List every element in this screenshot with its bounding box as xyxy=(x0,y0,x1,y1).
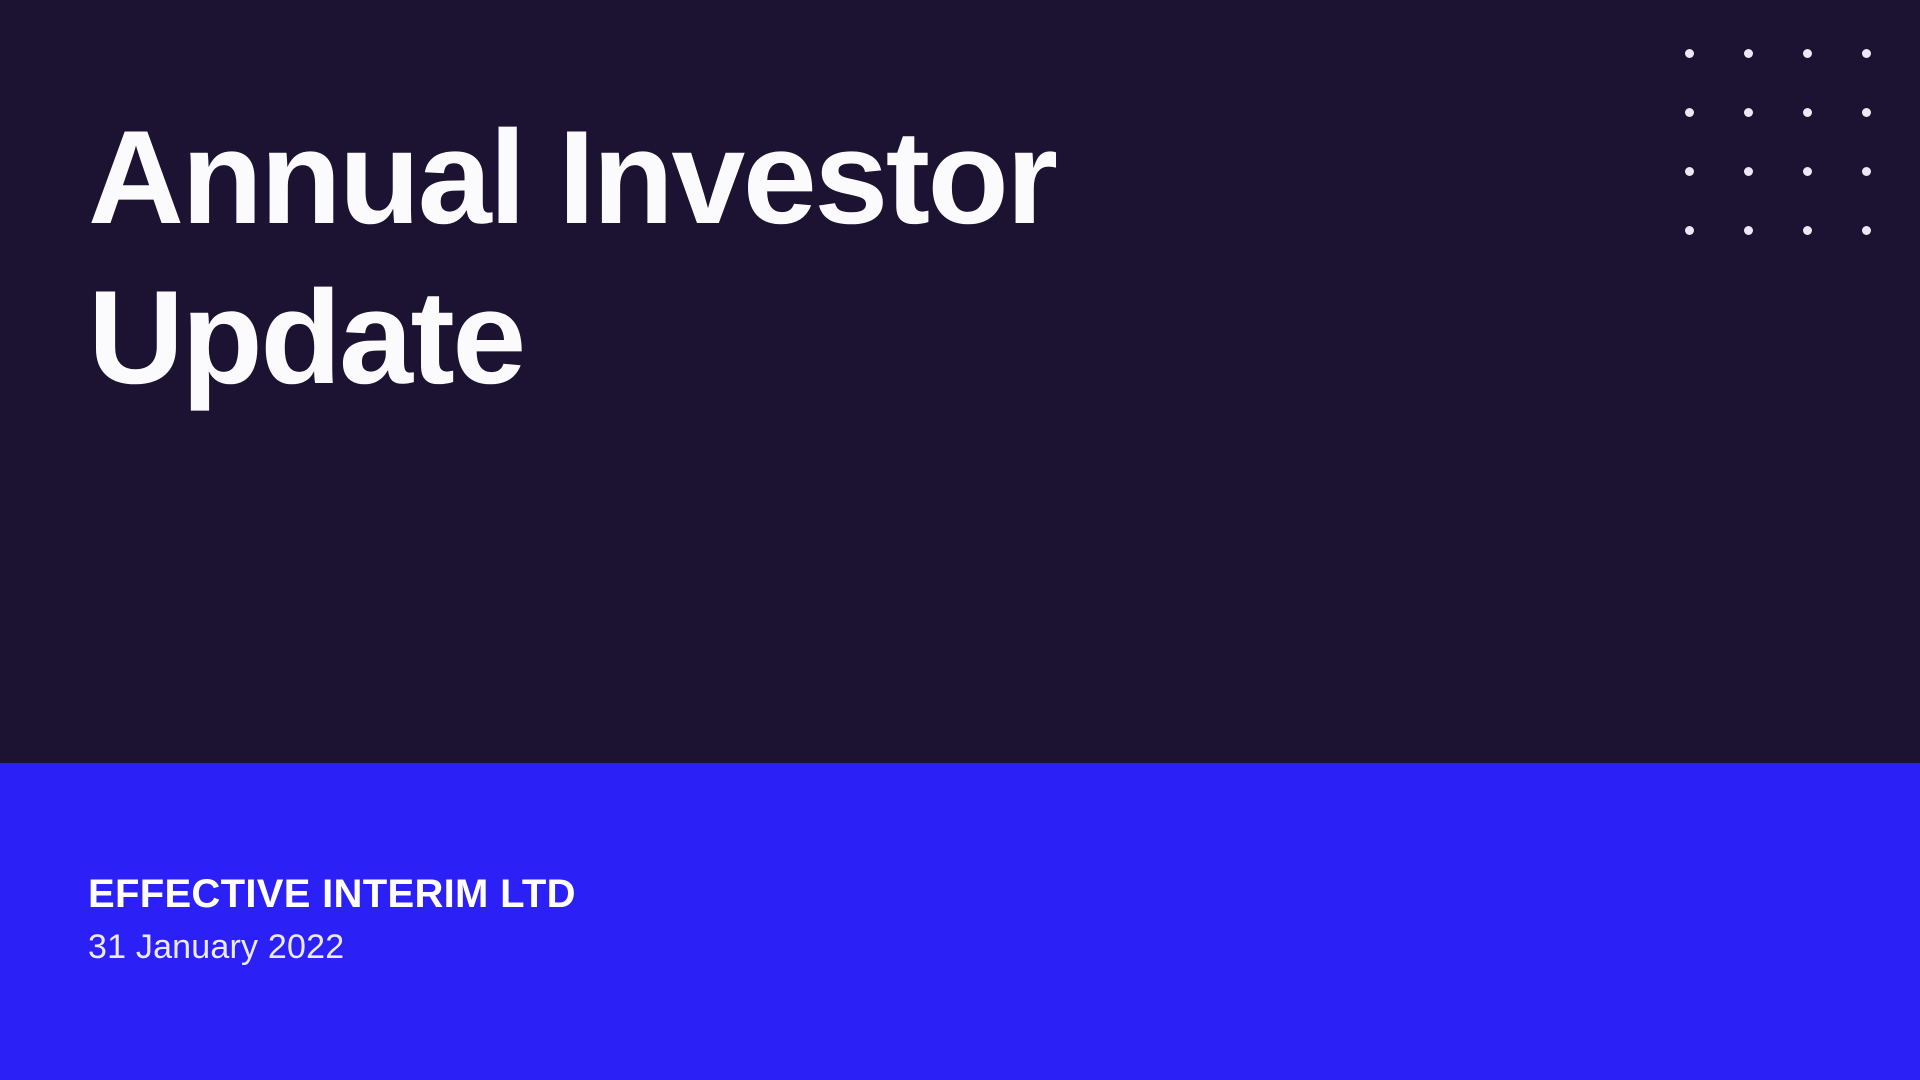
dot-icon xyxy=(1862,167,1871,176)
dot-icon xyxy=(1803,49,1812,58)
dot-icon xyxy=(1685,226,1694,235)
title-block: Annual Investor Update xyxy=(88,98,1388,418)
dot-icon xyxy=(1744,226,1753,235)
dot-icon xyxy=(1862,108,1871,117)
dot-icon xyxy=(1862,226,1871,235)
dot-icon xyxy=(1744,167,1753,176)
dot-icon xyxy=(1744,108,1753,117)
dot-icon xyxy=(1803,108,1812,117)
dot-icon xyxy=(1803,226,1812,235)
slide-date: 31 January 2022 xyxy=(88,926,576,968)
dot-icon xyxy=(1803,167,1812,176)
presentation-slide: Annual Investor Update EFFECTIVE INTERIM… xyxy=(0,0,1920,1080)
dot-icon xyxy=(1862,49,1871,58)
slide-bottom-band: EFFECTIVE INTERIM LTD 31 January 2022 xyxy=(0,763,1920,1080)
dot-icon xyxy=(1685,167,1694,176)
dot-icon xyxy=(1685,108,1694,117)
footer-block: EFFECTIVE INTERIM LTD 31 January 2022 xyxy=(88,870,576,968)
slide-top-band: Annual Investor Update xyxy=(0,0,1920,763)
organization-name: EFFECTIVE INTERIM LTD xyxy=(88,870,576,918)
dot-icon xyxy=(1744,49,1753,58)
dot-icon xyxy=(1685,49,1694,58)
page-title: Annual Investor Update xyxy=(88,98,1388,418)
dot-grid-decoration xyxy=(1685,0,1920,235)
